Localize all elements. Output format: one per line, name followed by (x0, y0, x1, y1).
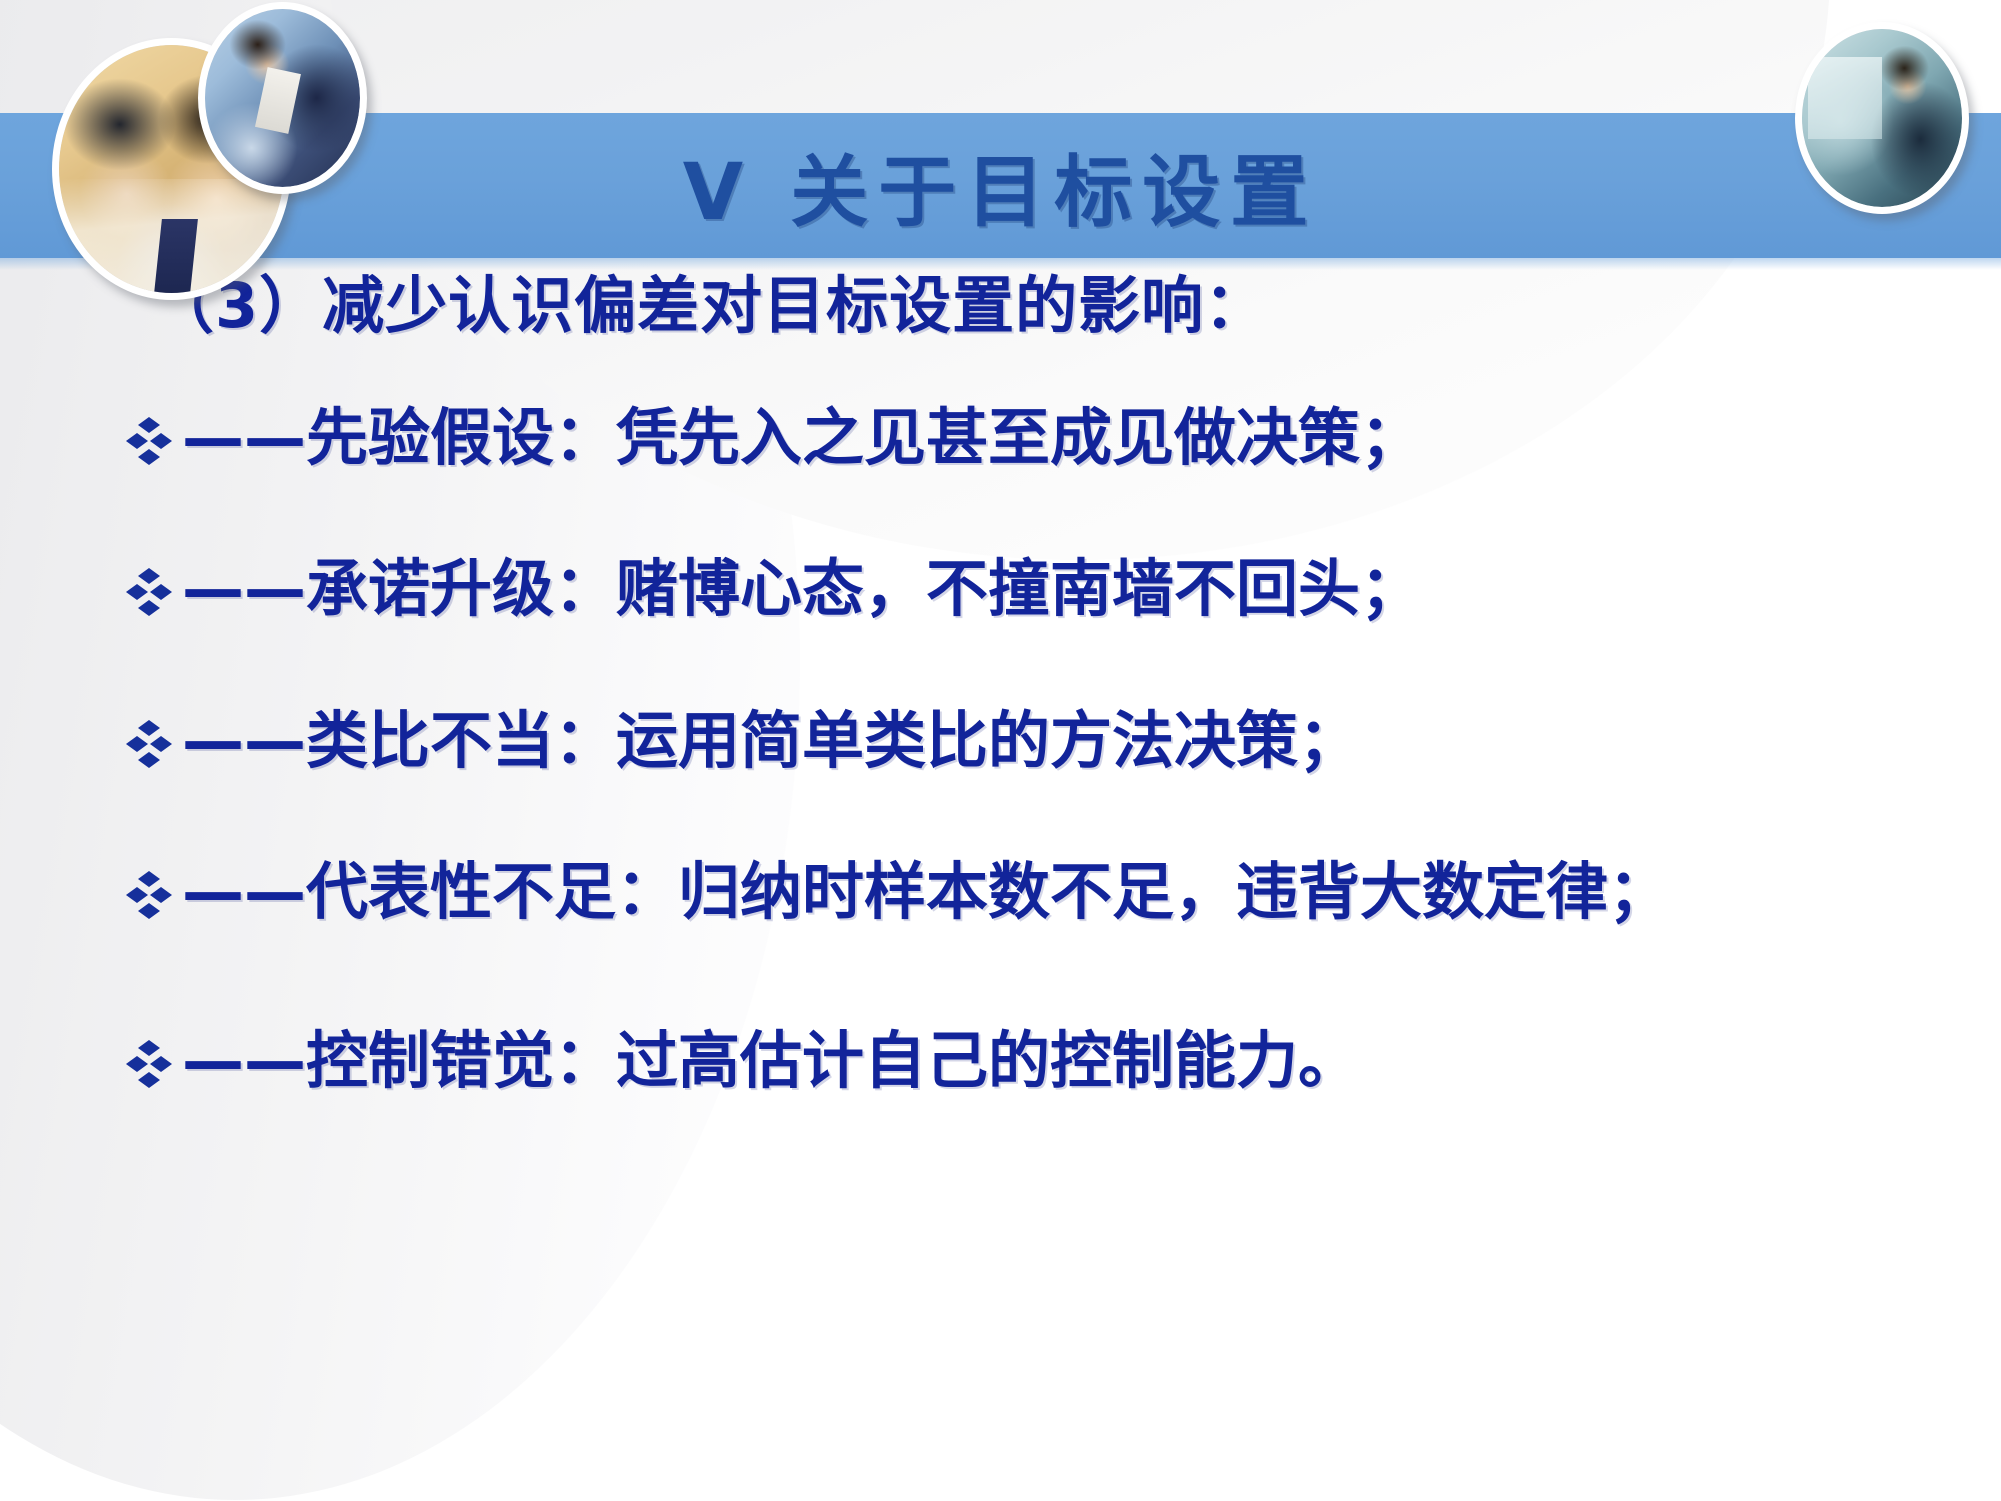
photo-detail-whiteboard (1808, 57, 1882, 139)
bullet-item-2: ——承诺升级：赌博心态，不撞南墙不回头； (0, 552, 2001, 625)
bullet-item-1-text: ——先验假设：凭先入之见甚至成见做决策； (130, 401, 1912, 474)
bullet-item-4: ——代表性不足：归纳时样本数不足，违背大数定律； (0, 855, 2001, 928)
bullet-item-1: ——先验假设：凭先入之见甚至成见做决策； (0, 401, 2001, 474)
bullet-list: ——先验假设：凭先入之见甚至成见做决策； ——承诺升级：赌博心态，不撞南墙不回头… (0, 401, 2001, 1097)
photo-bubble-businessman (198, 2, 367, 194)
diamond-bullet-icon (124, 863, 176, 923)
photo-bubble-businessman-image (205, 9, 360, 187)
content-heading: （3）减少认识偏差对目标设置的影响： (0, 270, 2001, 341)
bullet-item-3: ——类比不当：运用简单类比的方法决策； (0, 704, 2001, 777)
photo-detail-collar (255, 67, 301, 133)
bullet-item-5: ——控制错觉：过高估计自己的控制能力。 (0, 1024, 2001, 1097)
diamond-bullet-icon (124, 712, 176, 772)
photo-bubble-presenter (1795, 22, 1969, 214)
slide-canvas: Ⅴ 关于目标设置 （3）减少认识偏差对目标设置的影响： (0, 0, 2001, 1501)
bullet-item-2-text: ——承诺升级：赌博心态，不撞南墙不回头； (130, 552, 1912, 625)
diamond-bullet-icon (124, 1032, 176, 1092)
diamond-bullet-icon (124, 409, 176, 469)
bullet-item-3-text: ——类比不当：运用简单类比的方法决策； (130, 704, 1912, 777)
photo-bubble-presenter-image (1802, 29, 1962, 207)
slide-content: （3）减少认识偏差对目标设置的影响： ——先验假设：凭先入之见甚至成见做决策； (0, 270, 2001, 1097)
bullet-item-5-text: ——控制错觉：过高估计自己的控制能力。 (130, 1024, 1912, 1097)
diamond-bullet-icon (124, 560, 176, 620)
bullet-item-4-text: ——代表性不足：归纳时样本数不足，违背大数定律； (130, 855, 1912, 928)
